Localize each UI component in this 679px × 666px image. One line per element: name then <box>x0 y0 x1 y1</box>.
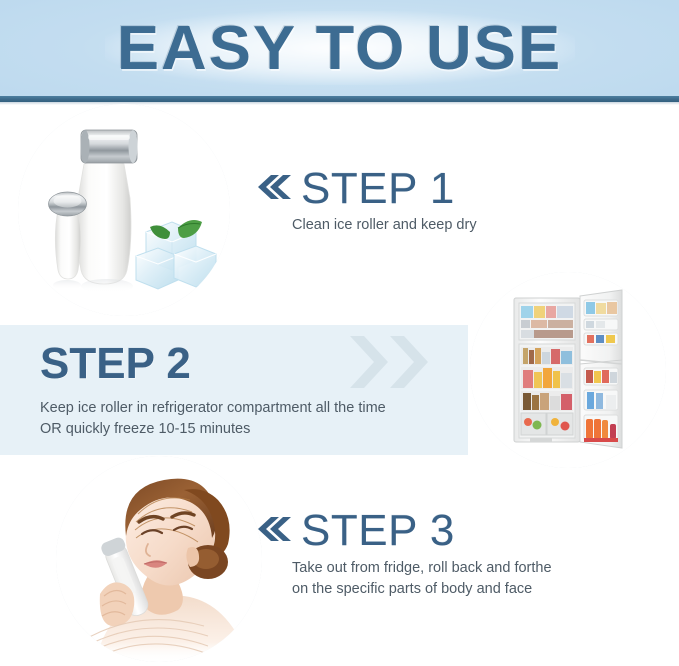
step-3-title: STEP 3 <box>301 508 455 554</box>
step-3-heading: STEP 3 <box>256 508 455 554</box>
infographic-page: EASY TO USE <box>0 0 679 666</box>
header-banner: EASY TO USE <box>0 0 679 96</box>
double-right-chevron-icon <box>348 334 434 390</box>
step-3-description: Take out from fridge, roll back and fort… <box>292 558 552 600</box>
step-2-title: STEP 2 <box>40 341 191 387</box>
step-1-heading: STEP 1 <box>256 166 455 212</box>
step-2-description: Keep ice roller in refrigerator compartm… <box>40 398 386 440</box>
open-refrigerator-photo <box>470 272 666 468</box>
step-2-heading: STEP 2 <box>40 341 191 387</box>
double-left-chevron-icon <box>256 174 292 205</box>
step-1-description: Clean ice roller and keep dry <box>292 215 477 236</box>
ice-roller-product-photo <box>18 104 230 316</box>
page-title: EASY TO USE <box>0 16 679 82</box>
woman-using-ice-roller-photo <box>56 456 262 662</box>
header-divider-shadow <box>0 102 679 105</box>
double-left-chevron-icon <box>256 516 292 547</box>
step-1-title: STEP 1 <box>301 166 455 212</box>
